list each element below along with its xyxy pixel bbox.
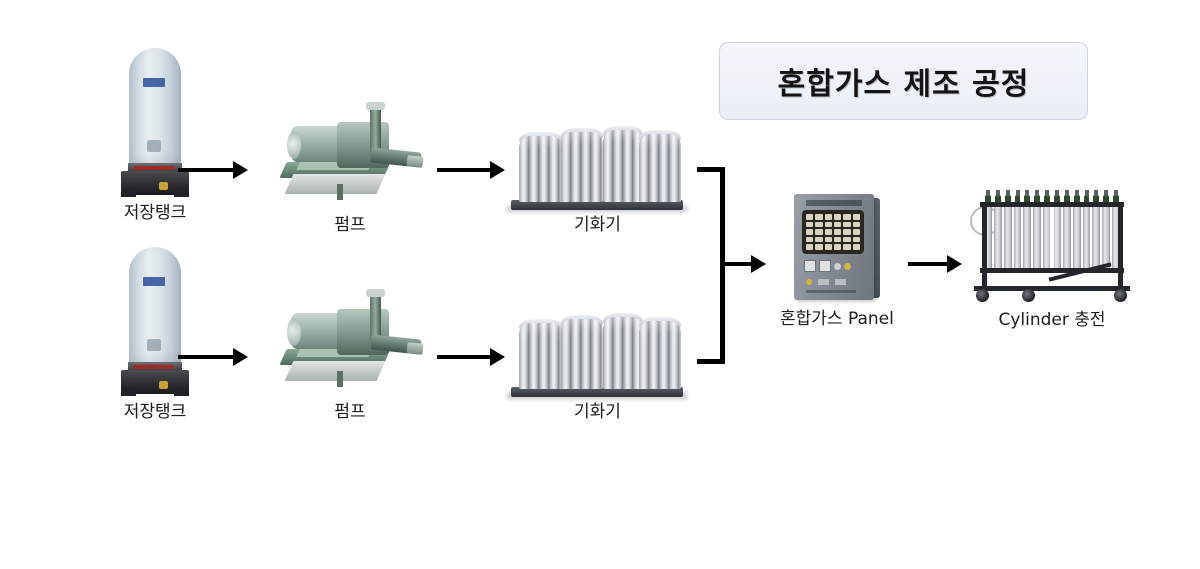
- tank-foot-left: [121, 189, 136, 197]
- panel-lamp: [815, 214, 822, 220]
- pump-shaft-tip: [406, 342, 423, 355]
- gas-cylinder: [994, 204, 1002, 270]
- merge-bracket-icon: [697, 167, 725, 364]
- storage-tank-top-label: 저장탱크: [85, 202, 225, 224]
- node-cylinder-filling: Cylinder 충전: [962, 190, 1142, 331]
- panel-lamp: [834, 237, 841, 243]
- gas-cylinder: [1023, 204, 1031, 270]
- arrow-head: [490, 161, 505, 179]
- pump-column-cap: [366, 102, 385, 110]
- panel-button: [819, 260, 831, 272]
- tank-valve-icon: [159, 381, 168, 389]
- node-vaporizer-top: 기화기: [505, 110, 690, 236]
- pump-skirt: [285, 174, 386, 194]
- storage-tank-bottom-label: 저장탱크: [85, 401, 225, 423]
- panel-lamp: [834, 222, 841, 228]
- node-storage-tank-bottom: 저장탱크: [85, 247, 225, 423]
- panel-header-text-block: [806, 200, 862, 206]
- vaporizer-unit: [561, 319, 603, 389]
- rack-rail-bottom: [974, 286, 1130, 291]
- tank-foot-right: [174, 189, 189, 197]
- arrow-right-icon: [178, 347, 250, 367]
- node-mixed-gas-panel: 혼합가스 Panel: [780, 192, 890, 330]
- pump-icon: [275, 287, 425, 397]
- pump-motor-face: [287, 131, 301, 159]
- panel-indicator-dot: [834, 263, 841, 270]
- tank-valve-icon: [159, 182, 168, 190]
- node-pump-top: 펌프: [275, 100, 425, 236]
- panel-lamp: [834, 214, 841, 220]
- panel-lamp: [853, 237, 860, 243]
- gas-cylinder: [1083, 204, 1091, 270]
- gas-cylinder: [1102, 204, 1110, 270]
- panel-status-lamp: [818, 279, 829, 285]
- tank-stripe-shape: [134, 166, 174, 170]
- arrow-shaft: [178, 355, 236, 359]
- arrow-head: [490, 348, 505, 366]
- node-vaporizer-bottom: 기화기: [505, 297, 690, 423]
- node-storage-tank-top: 저장탱크: [85, 48, 225, 224]
- panel-footer-text-block: [806, 290, 856, 293]
- panel-lamp: [853, 229, 860, 235]
- arrow-shaft: [178, 168, 236, 172]
- rack-wheel: [976, 289, 989, 302]
- rack-wheel: [1022, 289, 1035, 302]
- gas-cylinder: [1053, 204, 1061, 270]
- vaporizer-icon: [505, 297, 690, 397]
- panel-button-row: [804, 260, 862, 272]
- panel-status-lamp: [835, 279, 846, 285]
- panel-lamp: [825, 244, 832, 250]
- gas-cylinder: [1063, 204, 1071, 270]
- pump-leg: [337, 371, 343, 387]
- pump-shaft-tip: [406, 155, 423, 168]
- rack-rail-top: [980, 202, 1124, 207]
- vaporizer-unit: [561, 132, 603, 202]
- panel-lamp: [815, 222, 822, 228]
- mixed-gas-panel-label: 혼합가스 Panel: [780, 308, 890, 330]
- panel-lamp: [825, 222, 832, 228]
- tank-foot-right: [174, 388, 189, 396]
- panel-status-lamp: [806, 279, 812, 285]
- rack-post-right: [1118, 202, 1123, 290]
- pump-top-label: 펌프: [275, 214, 425, 236]
- vaporizer-unit: [639, 321, 681, 389]
- arrow-head: [233, 348, 248, 366]
- gas-cylinder: [1033, 204, 1041, 270]
- panel-lamp: [843, 229, 850, 235]
- tank-gauge-icon: [147, 339, 161, 351]
- panel-lamp: [806, 222, 813, 228]
- tank-foot-left: [121, 388, 136, 396]
- pump-motor-face: [287, 318, 301, 346]
- arrow-right-icon: [437, 347, 507, 367]
- gas-cylinder: [1073, 204, 1081, 270]
- vaporizer-top-label: 기화기: [505, 214, 690, 236]
- panel-lamp: [825, 237, 832, 243]
- arrow-shaft: [722, 262, 754, 266]
- rack-wheel: [1114, 289, 1127, 302]
- pump-column-cap: [366, 289, 385, 297]
- panel-lamp: [806, 229, 813, 235]
- bracket-bottom-arm: [697, 359, 725, 364]
- arrow-shaft: [908, 262, 950, 266]
- panel-secondary-row: [806, 278, 860, 286]
- pump-leg: [337, 184, 343, 200]
- panel-lamp: [825, 229, 832, 235]
- vaporizer-bottom-label: 기화기: [505, 401, 690, 423]
- rack-center-gap: [1050, 204, 1054, 270]
- panel-lamp: [853, 222, 860, 228]
- panel-lamp: [815, 244, 822, 250]
- vaporizer-unit: [519, 323, 563, 389]
- panel-lamp: [825, 214, 832, 220]
- pump-bottom-label: 펌프: [275, 401, 425, 423]
- control-panel-icon: [780, 192, 890, 304]
- arrow-head: [233, 161, 248, 179]
- tank-gauge-icon: [147, 140, 161, 152]
- arrow-head: [947, 255, 962, 273]
- panel-lamp: [853, 214, 860, 220]
- tank-stripe-shape: [134, 365, 174, 369]
- arrow-right-icon: [178, 160, 250, 180]
- panel-side-face: [873, 198, 880, 298]
- arrow-head: [751, 255, 766, 273]
- panel-lamp: [834, 229, 841, 235]
- arrow-right-icon: [437, 160, 507, 180]
- arrow-right-icon: [722, 254, 768, 274]
- node-pump-bottom: 펌프: [275, 287, 425, 423]
- vaporizer-unit: [519, 136, 563, 202]
- panel-lamp: [834, 244, 841, 250]
- panel-lamp: [843, 222, 850, 228]
- panel-lamp: [843, 214, 850, 220]
- pump-column: [370, 106, 381, 154]
- arrow-shaft: [437, 355, 493, 359]
- panel-lamp: [853, 244, 860, 250]
- panel-indicator-dot-amber: [844, 263, 851, 270]
- tank-logo-mark: [143, 78, 165, 87]
- storage-tank-icon: [95, 247, 215, 397]
- panel-lamp: [806, 237, 813, 243]
- panel-indicator-grid: [802, 210, 864, 254]
- panel-lamp: [806, 244, 813, 250]
- vaporizer-unit: [603, 317, 643, 389]
- panel-lamp: [843, 237, 850, 243]
- rack-rail-middle: [980, 268, 1124, 273]
- pump-column: [370, 293, 381, 341]
- arrow-shaft: [437, 168, 493, 172]
- diagram-canvas: 혼합가스 제조 공정 저장탱크: [0, 0, 1200, 569]
- vaporizer-icon: [505, 110, 690, 210]
- pump-skirt: [285, 361, 386, 381]
- arrow-right-icon: [908, 254, 964, 274]
- panel-lamp: [843, 244, 850, 250]
- diagram-title-box: 혼합가스 제조 공정: [719, 42, 1088, 120]
- panel-lamp: [815, 229, 822, 235]
- gas-cylinder: [1014, 204, 1022, 270]
- tank-logo-mark: [143, 277, 165, 286]
- gas-cylinder: [1004, 204, 1012, 270]
- page-title: 혼합가스 제조 공정: [778, 59, 1030, 103]
- cylinder-rack-icon: [962, 190, 1142, 305]
- panel-lamp: [806, 214, 813, 220]
- panel-lamp: [815, 237, 822, 243]
- pump-icon: [275, 100, 425, 210]
- rack-post-left: [982, 202, 987, 290]
- vaporizer-unit: [603, 130, 643, 202]
- panel-button: [804, 260, 816, 272]
- cylinder-filling-label: Cylinder 충전: [962, 309, 1142, 331]
- gas-cylinder: [1092, 204, 1100, 270]
- vaporizer-unit: [639, 134, 681, 202]
